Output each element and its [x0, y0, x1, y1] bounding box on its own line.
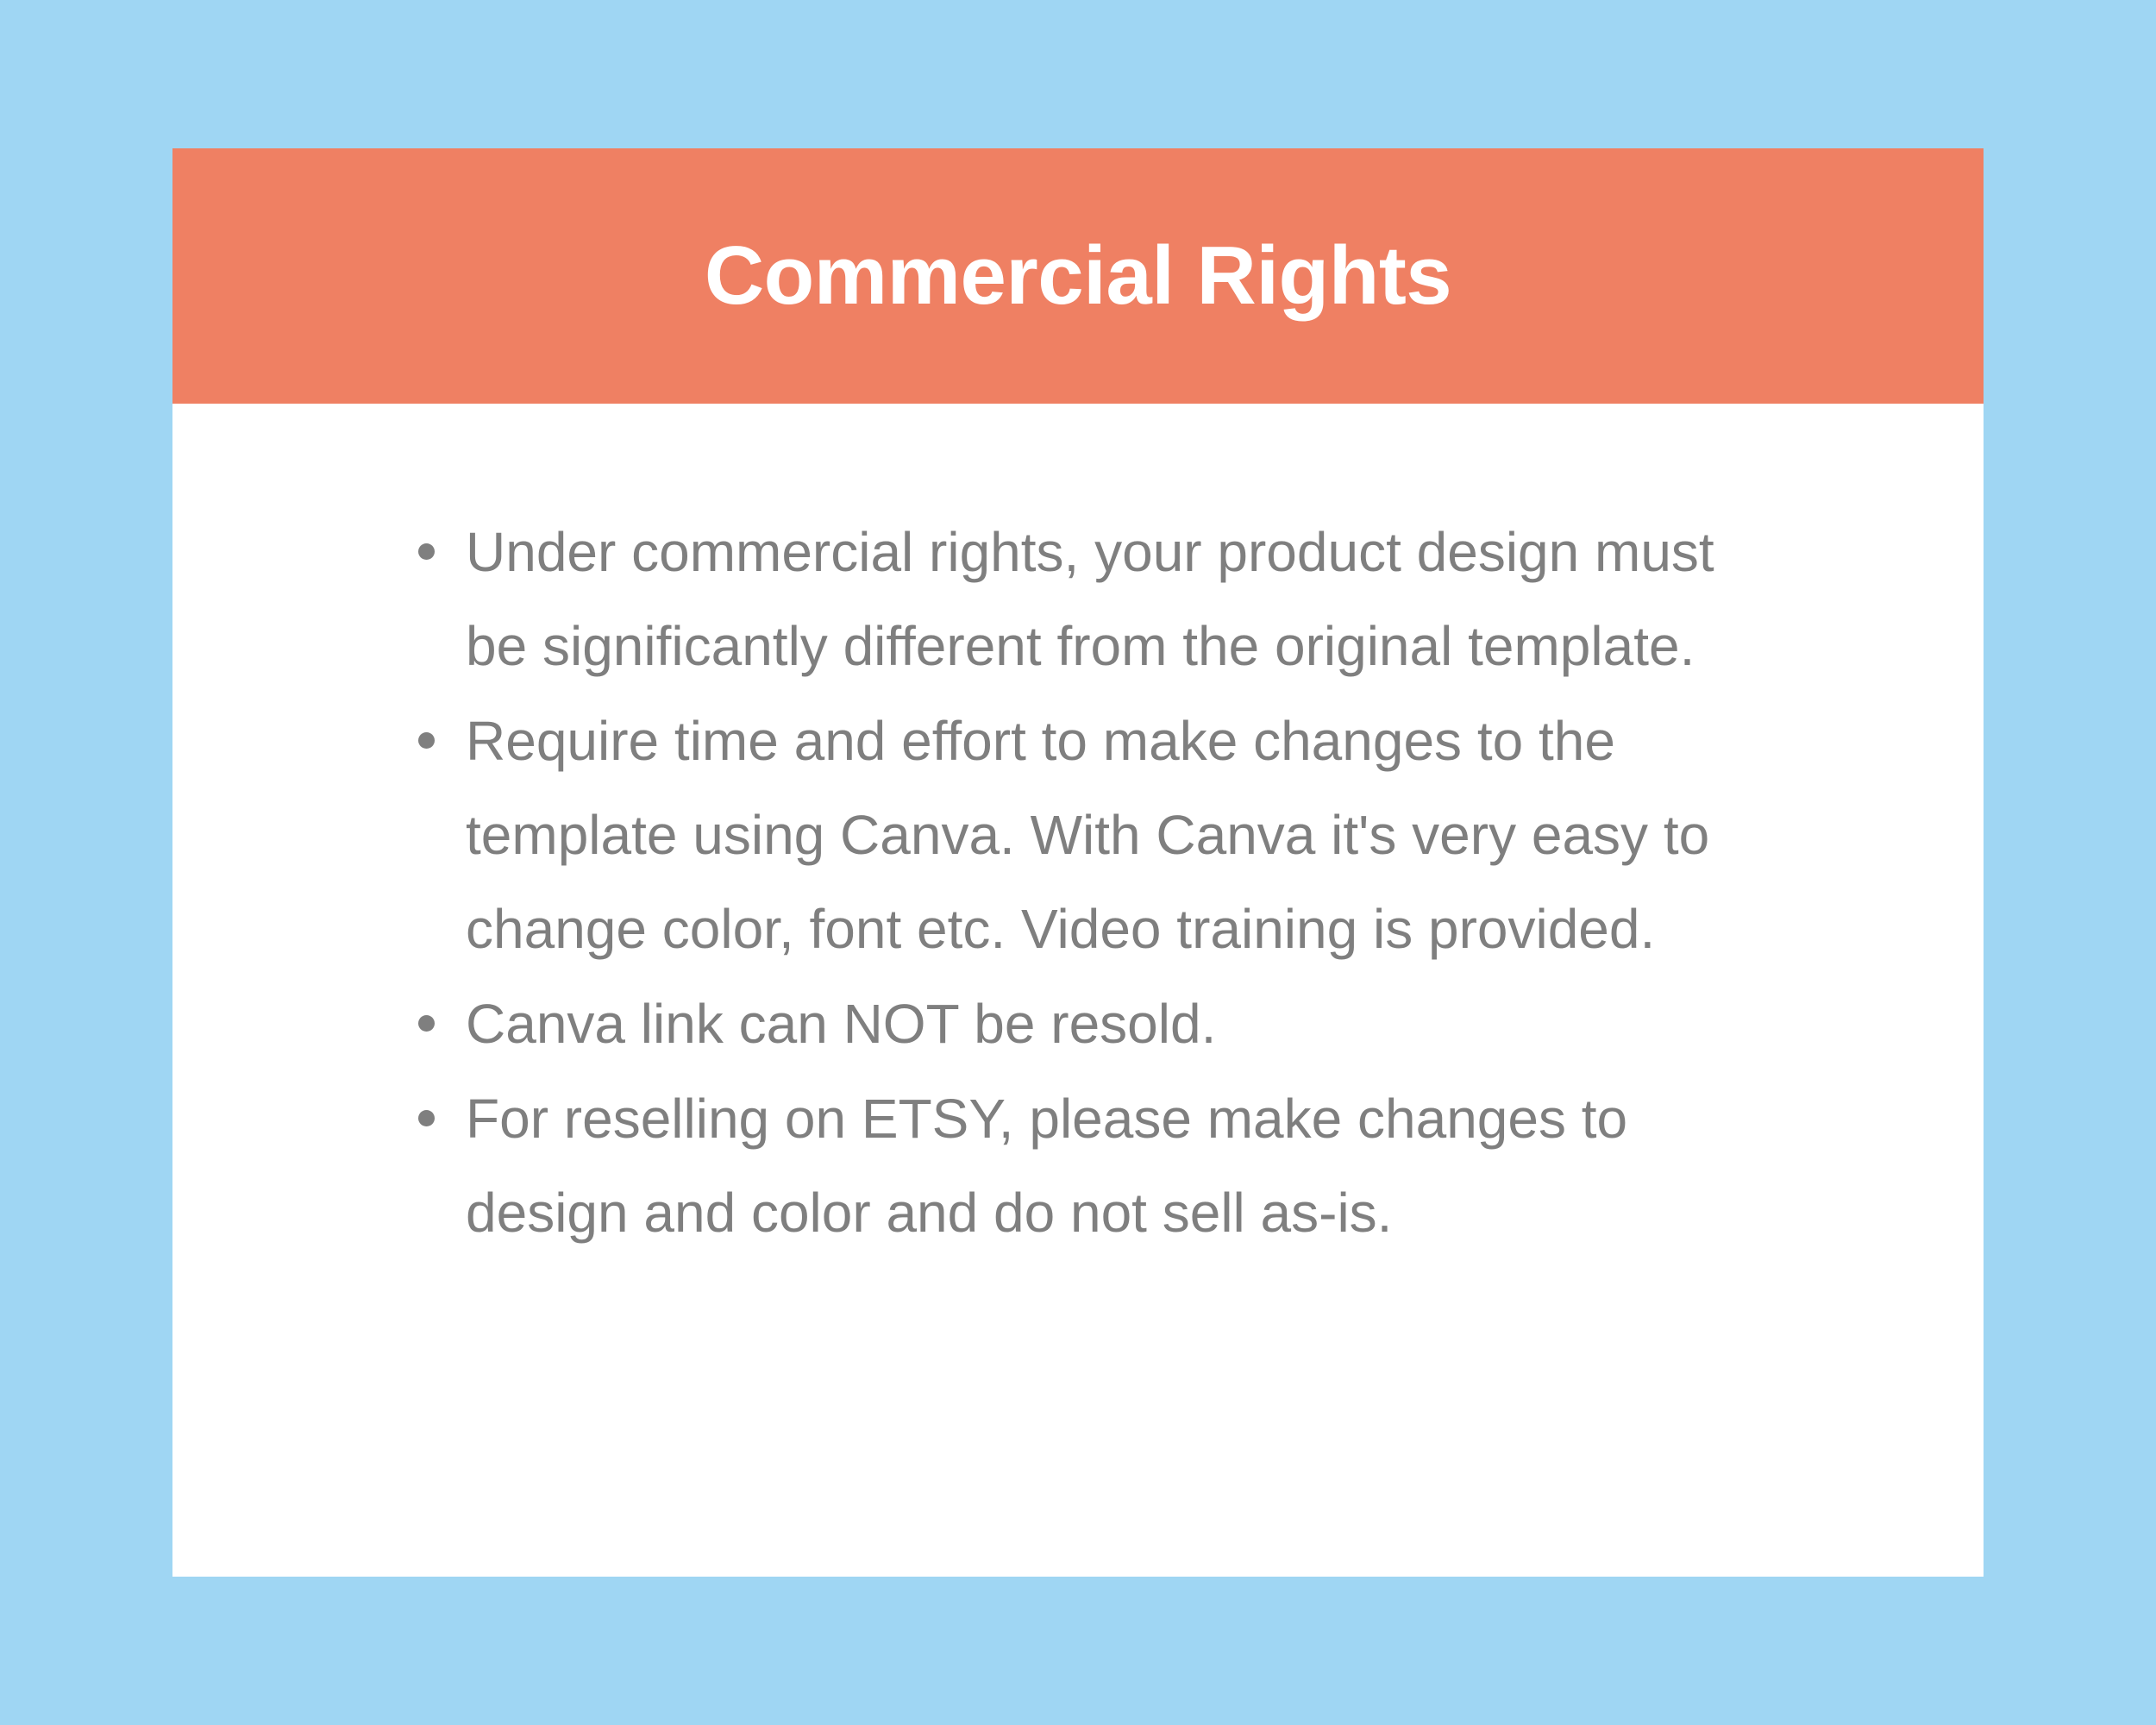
list-item: Require time and effort to make changes … [418, 694, 1733, 976]
page-title: Commercial Rights [670, 233, 1486, 320]
card-body: Under commercial rights, your product de… [172, 404, 1984, 1577]
list-item: Under commercial rights, your product de… [418, 505, 1733, 693]
info-card: Commercial Rights Under commercial right… [172, 148, 1984, 1577]
page-background: Commercial Rights Under commercial right… [0, 0, 2156, 1725]
list-item-text: For reselling on ETSY, please make chang… [466, 1088, 1627, 1244]
card-header-banner: Commercial Rights [172, 148, 1984, 404]
commercial-rights-list: Under commercial rights, your product de… [418, 505, 1733, 1260]
bullet-dot-icon [418, 732, 435, 749]
list-item: For reselling on ETSY, please make chang… [418, 1072, 1733, 1260]
bullet-dot-icon [418, 543, 435, 560]
list-item-text: Require time and effort to make changes … [466, 710, 1709, 960]
list-item-text: Canva link can NOT be resold. [466, 993, 1216, 1055]
bullet-dot-icon [418, 1015, 435, 1032]
bullet-dot-icon [418, 1110, 435, 1126]
list-item: Canva link can NOT be resold. [418, 977, 1733, 1071]
list-item-text: Under commercial rights, your product de… [466, 521, 1714, 677]
